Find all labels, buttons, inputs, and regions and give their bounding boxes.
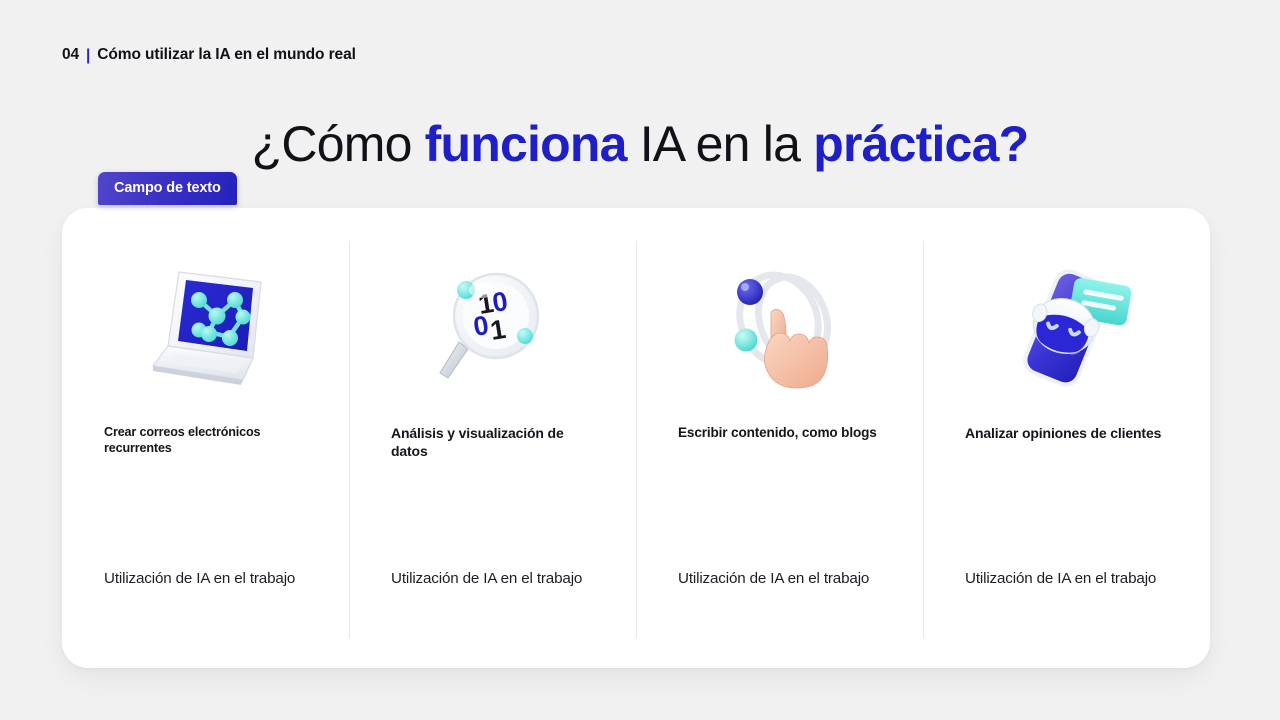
title-part-4-accent: práctica? bbox=[813, 116, 1028, 172]
slide-number: 04 bbox=[62, 46, 79, 64]
page-title: ¿Cómo funciona IA en la práctica? bbox=[0, 118, 1280, 171]
pointing-hand-atom-icon bbox=[678, 241, 881, 416]
column-escribir-contenido: Escribir contenido, como blogs Utilizaci… bbox=[636, 208, 923, 668]
column-body: Utilización de IA en el trabajo bbox=[965, 569, 1168, 590]
column-title: Escribir contenido, como blogs bbox=[678, 424, 881, 464]
column-body: Utilización de IA en el trabajo bbox=[678, 569, 881, 590]
slide-header: 04 | Cómo utilizar la IA en el mundo rea… bbox=[62, 46, 356, 64]
column-analisis-datos: 1 0 0 1 Análisis y visualización de dato… bbox=[349, 208, 636, 668]
column-title: Analizar opiniones de clientes bbox=[965, 424, 1168, 464]
column-crear-correos: Crear correos electrónicos recurrentes U… bbox=[62, 208, 349, 668]
header-title: Cómo utilizar la IA en el mundo real bbox=[97, 46, 356, 64]
header-separator: | bbox=[86, 47, 90, 65]
chatbot-phone-icon bbox=[965, 241, 1168, 416]
magnifying-glass-binary-icon: 1 0 0 1 bbox=[391, 241, 594, 416]
title-part-2-accent: funciona bbox=[425, 116, 627, 172]
column-body: Utilización de IA en el trabajo bbox=[391, 569, 594, 590]
column-analizar-opiniones: Analizar opiniones de clientes Utilizaci… bbox=[923, 208, 1210, 668]
column-body: Utilización de IA en el trabajo bbox=[104, 569, 307, 590]
column-title: Crear correos electrónicos recurrentes bbox=[104, 424, 307, 464]
content-card: Crear correos electrónicos recurrentes U… bbox=[62, 208, 1210, 668]
campo-de-texto-badge[interactable]: Campo de texto bbox=[98, 172, 237, 205]
laptop-neural-network-icon bbox=[104, 241, 307, 416]
title-part-3: IA en la bbox=[627, 116, 814, 172]
title-part-1: ¿Cómo bbox=[252, 116, 425, 172]
column-title: Análisis y visualización de datos bbox=[391, 424, 594, 464]
